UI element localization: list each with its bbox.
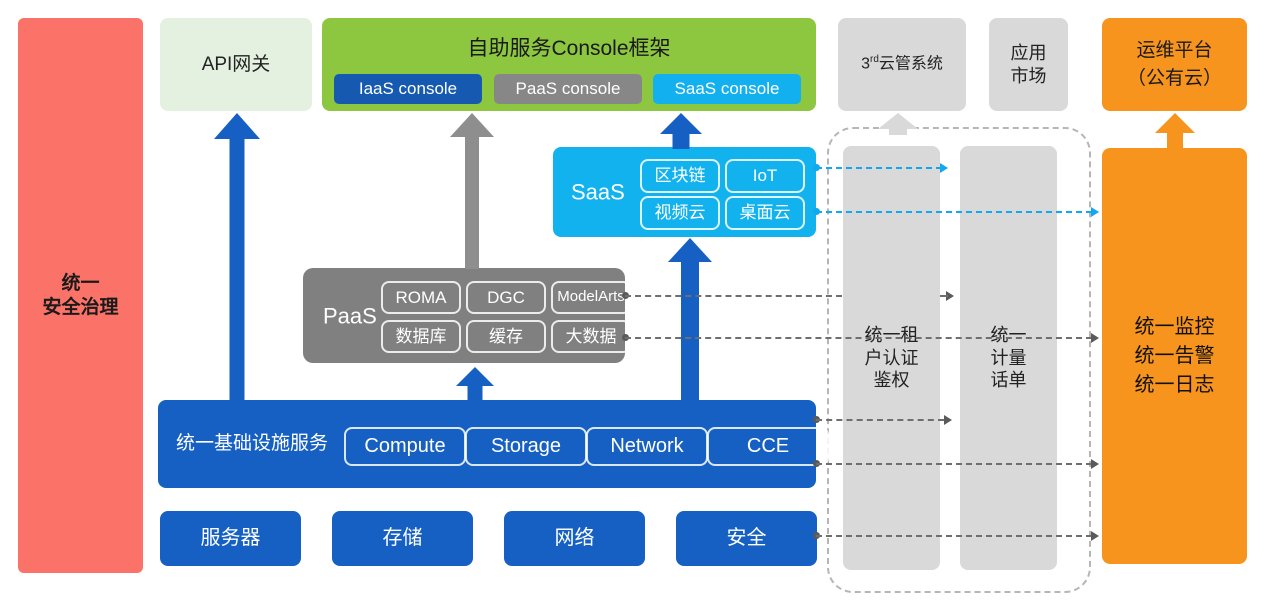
infra-item-storage[interactable]: Storage <box>465 427 587 466</box>
third-party-cloud-management-box: 3rd云管系统 <box>838 18 966 111</box>
paas-label: PaaS <box>323 302 377 330</box>
resource-box-servers-label: 服务器 <box>201 526 261 551</box>
architecture-diagram: 统一 安全治理 API网关 自助服务Console框架 IaaS console… <box>0 0 1265 605</box>
ops-platform-line-2: （公有云） <box>1127 65 1222 93</box>
paas-item-cache-label: 缓存 <box>489 326 523 347</box>
saas-console-label: SaaS console <box>675 78 780 99</box>
metering-line-1: 统一 <box>991 324 1027 347</box>
paas-block: PaaS ROMA DGC ModelArts 数据库 缓存 大数据 <box>303 268 625 363</box>
saas-item-blockchain[interactable]: 区块链 <box>640 159 720 193</box>
connector-auth-to-metering <box>940 295 948 297</box>
saas-label: SaaS <box>571 178 625 206</box>
arrow-infra-to-paas <box>456 367 494 401</box>
arrow-paas-to-console <box>450 113 494 269</box>
ops-center-line-1: 统一监控 <box>1135 313 1215 342</box>
console-framework-title: 自助服务Console框架 <box>322 36 816 62</box>
unified-ops-center-panel: 统一监控 统一告警 统一日志 <box>1102 148 1247 564</box>
arrow-to-third-party-cloud-management <box>878 113 918 135</box>
connector-arrowhead-infra-to-metering <box>944 415 952 425</box>
connector-infra-to-ops <box>816 463 1092 465</box>
unified-security-governance-panel: 统一 安全治理 <box>18 18 143 573</box>
connector-saas-to-ops <box>816 211 1092 213</box>
saas-block: SaaS 区块链 IoT 视频云 桌面云 <box>553 147 816 237</box>
infra-item-compute-label: Compute <box>364 434 445 459</box>
saas-item-video-cloud-label: 视频云 <box>655 202 706 223</box>
self-service-console-framework: 自助服务Console框架 IaaS console PaaS console … <box>322 18 816 111</box>
infra-item-cce-label: CCE <box>747 434 789 459</box>
saas-item-blockchain-label: 区块链 <box>655 165 706 186</box>
app-market-line-2: 市场 <box>1011 65 1047 88</box>
infra-item-cce[interactable]: CCE <box>707 427 829 466</box>
connector-arrowhead-saas-to-ops <box>1091 207 1099 217</box>
paas-item-cache[interactable]: 缓存 <box>466 320 546 353</box>
metering-line-3: 话单 <box>991 369 1027 392</box>
paas-item-dgc[interactable]: DGC <box>466 281 546 314</box>
resource-box-storage-label: 存储 <box>383 526 423 551</box>
infra-item-network[interactable]: Network <box>586 427 708 466</box>
arrow-infra-to-saas <box>668 238 712 401</box>
iaas-console-label: IaaS console <box>359 78 457 99</box>
connector-arrowhead-resources-to-ops <box>1091 531 1099 541</box>
arrow-infra-to-api-gateway <box>214 113 260 401</box>
governance-line-2: 安全治理 <box>42 296 118 320</box>
connector-infra-to-auth <box>816 419 944 421</box>
api-gateway-label: API网关 <box>202 53 271 77</box>
ops-platform-line-1: 运维平台 <box>1127 37 1222 65</box>
governance-line-1: 统一 <box>42 272 118 296</box>
saas-item-desktop-cloud[interactable]: 桌面云 <box>725 196 805 230</box>
auth-line-1: 统一租 <box>865 324 919 347</box>
third-party-cloud-management-label: 3rd云管系统 <box>861 54 943 74</box>
infra-item-network-label: Network <box>610 434 683 459</box>
paas-console-chip[interactable]: PaaS console <box>494 74 642 104</box>
arrow-saas-to-console <box>660 113 702 149</box>
shared-service-auth-column: 统一租 户认证 鉴权 <box>843 146 940 570</box>
paas-item-bigdata-label: 大数据 <box>566 326 617 347</box>
paas-item-roma[interactable]: ROMA <box>381 281 461 314</box>
infra-item-storage-label: Storage <box>491 434 561 459</box>
paas-item-modelarts-label: ModelArts <box>557 288 625 307</box>
shared-service-metering-column: 统一 计量 话单 <box>960 146 1057 570</box>
saas-console-chip[interactable]: SaaS console <box>653 74 801 104</box>
connector-paas-to-auth <box>625 295 842 297</box>
paas-item-dgc-label: DGC <box>487 287 525 308</box>
ordinal-superscript: rd <box>870 54 879 65</box>
iaas-console-chip[interactable]: IaaS console <box>334 74 482 104</box>
resource-box-storage[interactable]: 存储 <box>332 511 473 566</box>
connector-arrowhead-saas-to-auth <box>940 163 948 173</box>
unified-infrastructure-service-bar: 统一基础设施服务 Compute Storage Network CCE <box>158 400 816 488</box>
saas-item-desktop-cloud-label: 桌面云 <box>740 202 791 223</box>
infra-item-compute[interactable]: Compute <box>344 427 466 466</box>
resource-box-security[interactable]: 安全 <box>676 511 817 566</box>
arrow-to-ops-platform <box>1155 113 1195 149</box>
paas-item-bigdata[interactable]: 大数据 <box>551 320 631 353</box>
paas-item-database-label: 数据库 <box>396 326 447 347</box>
paas-item-modelarts[interactable]: ModelArts <box>551 281 631 314</box>
ops-center-line-2: 统一告警 <box>1135 342 1215 371</box>
paas-item-database[interactable]: 数据库 <box>381 320 461 353</box>
app-market-line-1: 应用 <box>1011 42 1047 65</box>
saas-item-video-cloud[interactable]: 视频云 <box>640 196 720 230</box>
ops-center-line-3: 统一日志 <box>1135 371 1215 400</box>
resource-box-servers[interactable]: 服务器 <box>160 511 301 566</box>
connector-arrowhead-paas-to-ops <box>1091 333 1099 343</box>
app-market-box: 应用 市场 <box>989 18 1068 111</box>
paas-item-roma-label: ROMA <box>396 287 447 308</box>
saas-item-iot[interactable]: IoT <box>725 159 805 193</box>
metering-line-2: 计量 <box>991 347 1027 370</box>
paas-console-label: PaaS console <box>516 78 621 99</box>
auth-line-2: 户认证 <box>865 347 919 370</box>
resource-box-security-label: 安全 <box>727 526 767 551</box>
saas-item-iot-label: IoT <box>753 165 778 186</box>
resource-box-network[interactable]: 网络 <box>504 511 645 566</box>
connector-saas-to-auth <box>816 167 942 169</box>
api-gateway-box[interactable]: API网关 <box>160 18 312 111</box>
auth-line-3: 鉴权 <box>865 369 919 392</box>
resource-box-network-label: 网络 <box>555 526 595 551</box>
connector-paas-to-ops <box>625 337 1092 339</box>
infrastructure-label: 统一基础设施服务 <box>176 432 328 456</box>
connector-resources-to-ops <box>816 535 1092 537</box>
connector-arrowhead-infra-to-ops <box>1091 459 1099 469</box>
ops-platform-box: 运维平台 （公有云） <box>1102 18 1247 111</box>
